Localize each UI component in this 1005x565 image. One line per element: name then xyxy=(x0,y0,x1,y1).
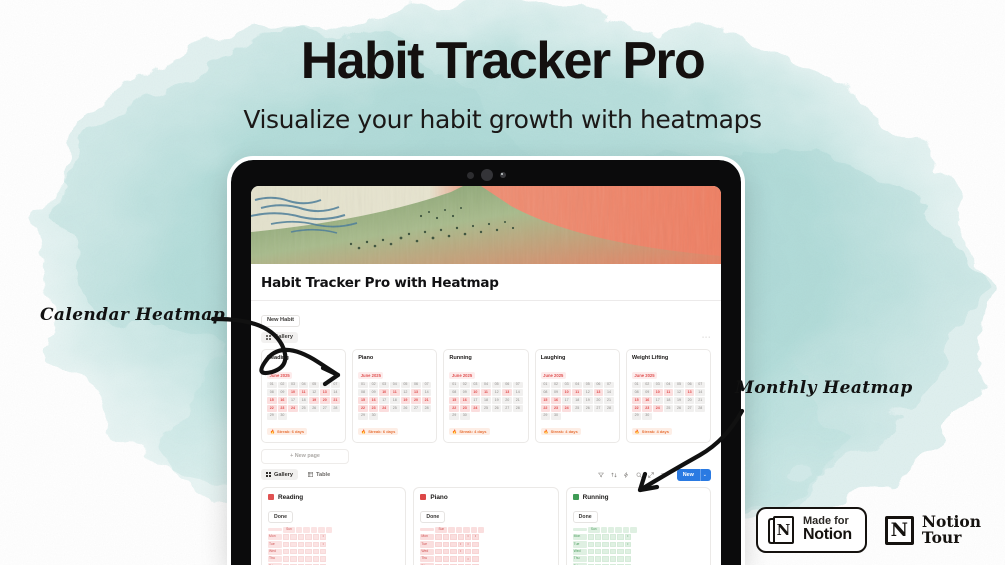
heatmap-cell[interactable] xyxy=(595,534,601,539)
calendar-day-cell[interactable]: 06 xyxy=(320,382,330,389)
calendar-day-cell[interactable]: 06 xyxy=(685,382,695,389)
monthly-grid-row: Wed• xyxy=(420,549,551,555)
calendar-day-cell[interactable]: 09 xyxy=(369,389,379,396)
calendar-day-cell[interactable]: 12 xyxy=(401,389,411,396)
calendar-day-cell[interactable]: 27 xyxy=(411,405,421,412)
calendar-day-cell[interactable]: 24 xyxy=(379,405,389,412)
calendar-day-cell[interactable]: 16 xyxy=(642,397,652,404)
calendar-day-cell[interactable]: 05 xyxy=(583,382,593,389)
calendar-day-cell[interactable]: 19 xyxy=(401,397,411,404)
monthly-header-cell xyxy=(463,527,469,532)
calendar-day-cell[interactable]: 18 xyxy=(299,397,309,404)
calendar-day-blank xyxy=(390,413,400,420)
calendar-day-cell[interactable]: 28 xyxy=(695,405,705,412)
calendar-day-cell[interactable]: 12 xyxy=(309,389,319,396)
heatmap-cell-mark-icon: • xyxy=(465,534,471,539)
monthly-card-header: Running xyxy=(573,494,704,501)
calendar-day-cell[interactable]: 13 xyxy=(411,389,421,396)
heatmap-cell[interactable] xyxy=(602,549,608,554)
calendar-day-cell[interactable]: 17 xyxy=(471,397,481,404)
notion-tour-line2: Tour xyxy=(922,530,981,546)
heatmap-cell[interactable]: • xyxy=(458,549,464,554)
table-icon xyxy=(308,472,313,477)
notion-tour-badge[interactable]: N Notion Tour xyxy=(885,514,981,546)
calendar-day-cell[interactable]: 23 xyxy=(551,405,561,412)
chevron-down-icon[interactable]: ⌄ xyxy=(700,469,711,481)
calendar-day-cell[interactable]: 07 xyxy=(331,382,341,389)
calendar-day-cell[interactable]: 17 xyxy=(379,397,389,404)
calendar-day-cell[interactable]: 04 xyxy=(390,382,400,389)
calendar-day-cell[interactable]: 29 xyxy=(449,413,459,420)
calendar-day-cell[interactable]: 08 xyxy=(449,389,459,396)
heatmap-cell[interactable] xyxy=(625,549,631,554)
calendar-day-cell[interactable]: 27 xyxy=(320,405,330,412)
calendar-day-cell[interactable]: 08 xyxy=(541,389,551,396)
calendar-day-blank xyxy=(401,413,411,420)
heatmap-cell[interactable] xyxy=(320,556,326,561)
notion-tour-logo-letter: N xyxy=(891,521,908,540)
calendar-card-month: June 2025 xyxy=(541,372,566,379)
calendar-day-cell[interactable]: 17 xyxy=(288,397,298,404)
heatmap-cell[interactable] xyxy=(313,534,319,539)
db-tab-gallery-label: Gallery xyxy=(274,472,293,478)
heatmap-cell[interactable] xyxy=(435,549,441,554)
monthly-heatmap-card[interactable]: PianoDoneSunMon••Tue••Wed•Thu•Fri••Sat••… xyxy=(413,487,558,565)
heatmap-cell[interactable] xyxy=(588,534,594,539)
calendar-day-blank xyxy=(299,413,309,420)
calendar-day-cell[interactable]: 20 xyxy=(502,397,512,404)
streak-label: Streak: 6 days xyxy=(368,430,395,434)
heatmap-cell[interactable] xyxy=(305,556,311,561)
heatmap-cell[interactable] xyxy=(283,556,289,561)
new-record-button[interactable]: New ⌄ xyxy=(677,469,711,481)
calendar-day-cell[interactable]: 18 xyxy=(390,397,400,404)
calendar-day-cell[interactable]: 18 xyxy=(481,397,491,404)
heatmap-cell[interactable] xyxy=(595,542,601,547)
heatmap-cell[interactable] xyxy=(602,556,608,561)
calendar-day-cell[interactable]: 26 xyxy=(583,405,593,412)
calendar-day-cell[interactable]: 14 xyxy=(604,389,614,396)
calendar-day-cell[interactable]: 19 xyxy=(492,397,502,404)
calendar-heatmap-card[interactable]: Weight LiftingJune 202501020304050607080… xyxy=(626,349,711,443)
calendar-day-cell[interactable]: 29 xyxy=(358,413,368,420)
heatmap-cell[interactable] xyxy=(305,542,311,547)
calendar-heatmap-card[interactable]: LaughingJune 202501020304050607080910111… xyxy=(535,349,620,443)
heatmap-cell[interactable] xyxy=(290,534,296,539)
heatmap-cell[interactable] xyxy=(290,549,296,554)
heatmap-cell[interactable] xyxy=(450,556,456,561)
calendar-day-cell[interactable]: 28 xyxy=(513,405,523,412)
calendar-day-cell[interactable]: 07 xyxy=(695,382,705,389)
heatmap-cell[interactable] xyxy=(450,549,456,554)
calendar-day-cell[interactable]: 03 xyxy=(288,382,298,389)
calendar-day-cell[interactable]: 21 xyxy=(604,397,614,404)
calendar-day-cell[interactable]: 23 xyxy=(369,405,379,412)
calendar-day-cell[interactable]: 04 xyxy=(299,382,309,389)
weekday-label: Tue xyxy=(420,541,434,547)
fire-icon: 🔥 xyxy=(361,430,366,434)
heatmap-cell[interactable] xyxy=(472,542,478,547)
calendar-day-cell[interactable]: 04 xyxy=(572,382,582,389)
heatmap-cell[interactable] xyxy=(588,556,594,561)
heatmap-cell[interactable] xyxy=(443,556,449,561)
calendar-day-blank xyxy=(320,413,330,420)
calendar-day-cell[interactable]: 14 xyxy=(422,389,432,396)
calendar-day-cell[interactable]: 11 xyxy=(572,389,582,396)
calendar-day-cell[interactable]: 19 xyxy=(674,397,684,404)
calendar-day-cell[interactable]: 20 xyxy=(320,397,330,404)
monthly-grid-row: Wed xyxy=(268,549,399,555)
heatmap-cell-mark-icon: • xyxy=(320,534,326,539)
calendar-day-cell[interactable]: 28 xyxy=(331,405,341,412)
calendar-day-cell[interactable]: 12 xyxy=(492,389,502,396)
db-tab-table[interactable]: Table xyxy=(303,469,335,480)
calendar-day-cell[interactable]: 04 xyxy=(481,382,491,389)
calendar-day-cell[interactable]: 11 xyxy=(664,389,674,396)
calendar-day-cell[interactable]: 29 xyxy=(541,413,551,420)
calendar-card-title: Running xyxy=(449,355,522,361)
calendar-day-cell[interactable]: 18 xyxy=(664,397,674,404)
heatmap-cell[interactable] xyxy=(610,549,616,554)
calendar-day-cell[interactable]: 21 xyxy=(513,397,523,404)
monthly-card-title: Reading xyxy=(278,494,303,501)
tab-gallery-label: Gallery xyxy=(274,335,293,341)
calendar-day-cell[interactable]: 22 xyxy=(541,405,551,412)
heatmap-cell[interactable] xyxy=(298,556,304,561)
calendar-day-cell[interactable]: 10 xyxy=(288,389,298,396)
calendar-day-cell[interactable]: 21 xyxy=(331,397,341,404)
heatmap-cell[interactable] xyxy=(458,534,464,539)
heatmap-cell[interactable] xyxy=(320,549,326,554)
more-options-icon[interactable]: ··· xyxy=(702,334,711,341)
calendar-day-cell[interactable]: 16 xyxy=(460,397,470,404)
calendar-day-cell[interactable]: 24 xyxy=(562,405,572,412)
streak-badge: 🔥Streak: 4 days xyxy=(632,428,672,435)
heatmap-cell[interactable]: • xyxy=(465,556,471,561)
calendar-day-cell[interactable]: 17 xyxy=(653,397,663,404)
calendar-day-cell[interactable]: 07 xyxy=(604,382,614,389)
heatmap-cell[interactable] xyxy=(588,549,594,554)
calendar-heatmap-card[interactable]: PianoJune 202501020304050607080910111213… xyxy=(352,349,437,443)
heatmap-cell[interactable] xyxy=(298,534,304,539)
calendar-day-cell[interactable]: 01 xyxy=(449,382,459,389)
calendar-day-cell[interactable]: 09 xyxy=(460,389,470,396)
calendar-day-cell[interactable]: 30 xyxy=(278,413,288,420)
calendar-day-cell[interactable]: 12 xyxy=(583,389,593,396)
heatmap-cell[interactable]: • xyxy=(465,534,471,539)
calendar-day-cell[interactable]: 20 xyxy=(685,397,695,404)
heatmap-cell[interactable] xyxy=(617,556,623,561)
monthly-heatmap-card[interactable]: RunningDoneSunMon•Tue•WedThuFriSat•Sun•P… xyxy=(566,487,711,565)
heatmap-cell[interactable] xyxy=(290,542,296,547)
gallery-grid-icon xyxy=(266,335,271,340)
calendar-day-cell[interactable]: 02 xyxy=(551,382,561,389)
heatmap-cell[interactable] xyxy=(305,549,311,554)
sort-icon[interactable] xyxy=(611,472,617,478)
monthly-grid-row: Wed xyxy=(573,549,704,555)
heatmap-cell[interactable] xyxy=(435,542,441,547)
db-tab-table-label: Table xyxy=(316,472,330,478)
calendar-day-cell[interactable]: 05 xyxy=(309,382,319,389)
calendar-day-cell[interactable]: 08 xyxy=(632,389,642,396)
calendar-grid: 0102030405060708091011121314151617181920… xyxy=(632,382,705,420)
monthly-header-cell xyxy=(326,527,332,532)
calendar-day-cell[interactable]: 10 xyxy=(471,389,481,396)
calendar-heatmap-card[interactable]: ReadingJune 2025010203040506070809101112… xyxy=(261,349,346,443)
made-for-notion-badge[interactable]: N Made for Notion xyxy=(756,507,867,553)
expand-icon[interactable] xyxy=(648,472,654,478)
calendar-day-cell[interactable]: 08 xyxy=(358,389,368,396)
heatmap-cell[interactable]: • xyxy=(458,542,464,547)
calendar-day-cell[interactable]: 26 xyxy=(401,405,411,412)
calendar-day-cell[interactable]: 29 xyxy=(267,413,277,420)
calendar-day-cell[interactable]: 15 xyxy=(541,397,551,404)
heatmap-cell[interactable] xyxy=(617,534,623,539)
calendar-day-cell[interactable]: 05 xyxy=(674,382,684,389)
calendar-day-cell[interactable]: 24 xyxy=(471,405,481,412)
calendar-day-cell[interactable]: 09 xyxy=(278,389,288,396)
calendar-day-cell[interactable]: 11 xyxy=(299,389,309,396)
calendar-day-cell[interactable]: 07 xyxy=(422,382,432,389)
monthly-header-spacer xyxy=(268,528,282,531)
calendar-day-cell[interactable]: 06 xyxy=(594,382,604,389)
calendar-day-cell[interactable]: 23 xyxy=(278,405,288,412)
heatmap-cell[interactable] xyxy=(610,534,616,539)
heatmap-cell[interactable] xyxy=(298,549,304,554)
calendar-day-blank xyxy=(513,413,523,420)
heatmap-cell[interactable] xyxy=(313,556,319,561)
weekday-label: Tue xyxy=(573,541,587,547)
heatmap-cell-mark-icon: • xyxy=(625,534,631,539)
calendar-day-cell[interactable]: 19 xyxy=(309,397,319,404)
calendar-day-cell[interactable]: 15 xyxy=(632,397,642,404)
heatmap-cell[interactable] xyxy=(313,542,319,547)
streak-badge: 🔥Streak: 6 days xyxy=(358,428,398,435)
calendar-grid: 0102030405060708091011121314151617181920… xyxy=(449,382,522,420)
monthly-heatmap-card[interactable]: ReadingDoneSunMon•Tue•WedThuFriSat•Sun•P… xyxy=(261,487,406,565)
heatmap-cell[interactable] xyxy=(283,542,289,547)
calendar-day-cell[interactable]: 02 xyxy=(460,382,470,389)
calendar-day-cell[interactable]: 25 xyxy=(572,405,582,412)
calendar-day-cell[interactable]: 02 xyxy=(278,382,288,389)
heatmap-cell[interactable] xyxy=(443,549,449,554)
heatmap-cell[interactable] xyxy=(610,542,616,547)
calendar-day-cell[interactable]: 10 xyxy=(653,389,663,396)
heatmap-cell[interactable]: • xyxy=(625,542,631,547)
calendar-day-cell[interactable]: 04 xyxy=(664,382,674,389)
tab-gallery[interactable]: Gallery xyxy=(261,332,298,343)
heatmap-cell[interactable] xyxy=(595,556,601,561)
heatmap-cell[interactable] xyxy=(450,542,456,547)
filter-icon[interactable] xyxy=(598,472,604,478)
calendar-day-cell[interactable]: 16 xyxy=(551,397,561,404)
calendar-day-cell[interactable]: 22 xyxy=(358,405,368,412)
calendar-day-cell[interactable]: 28 xyxy=(604,405,614,412)
heatmap-cell[interactable]: • xyxy=(465,542,471,547)
calendar-day-cell[interactable]: 27 xyxy=(685,405,695,412)
notion-tour-text: Notion Tour xyxy=(922,514,981,546)
heatmap-cell[interactable]: • xyxy=(472,534,478,539)
calendar-day-cell[interactable]: 18 xyxy=(572,397,582,404)
page-title: Habit Tracker Pro xyxy=(0,34,1005,89)
heatmap-cell[interactable] xyxy=(435,534,441,539)
calendar-day-cell[interactable]: 20 xyxy=(411,397,421,404)
new-page-button[interactable]: + New page xyxy=(261,449,349,464)
calendar-day-cell[interactable]: 03 xyxy=(379,382,389,389)
calendar-day-cell[interactable]: 12 xyxy=(674,389,684,396)
monthly-header-cell xyxy=(478,527,484,532)
calendar-day-cell[interactable]: 30 xyxy=(460,413,470,420)
calendar-day-cell[interactable]: 02 xyxy=(642,382,652,389)
search-icon[interactable] xyxy=(636,472,642,478)
heatmap-cell[interactable] xyxy=(617,542,623,547)
calendar-day-cell[interactable]: 24 xyxy=(288,405,298,412)
calendar-day-cell[interactable]: 05 xyxy=(492,382,502,389)
calendar-day-cell[interactable]: 23 xyxy=(642,405,652,412)
calendar-day-cell[interactable]: 14 xyxy=(331,389,341,396)
heatmap-cell[interactable] xyxy=(472,556,478,561)
calendar-day-cell[interactable]: 13 xyxy=(320,389,330,396)
heatmap-cell[interactable] xyxy=(472,549,478,554)
calendar-day-cell[interactable]: 10 xyxy=(562,389,572,396)
calendar-day-cell[interactable]: 05 xyxy=(401,382,411,389)
sensor-dot-icon xyxy=(467,172,474,179)
calendar-day-cell[interactable]: 26 xyxy=(309,405,319,412)
monthly-heatmap-strip: ReadingDoneSunMon•Tue•WedThuFriSat•Sun•P… xyxy=(259,487,713,565)
monthly-header-cell xyxy=(311,527,317,532)
calendar-day-cell[interactable]: 26 xyxy=(674,405,684,412)
monthly-header-spacer xyxy=(573,528,587,531)
weekday-label: Tue xyxy=(268,541,282,547)
calendar-day-cell[interactable]: 03 xyxy=(562,382,572,389)
heatmap-cell[interactable] xyxy=(298,542,304,547)
heatmap-cell[interactable] xyxy=(443,534,449,539)
heatmap-cell[interactable] xyxy=(625,556,631,561)
heatmap-cell[interactable] xyxy=(602,534,608,539)
calendar-day-cell[interactable]: 23 xyxy=(460,405,470,412)
calendar-day-cell[interactable]: 01 xyxy=(541,382,551,389)
heatmap-cell[interactable] xyxy=(283,534,289,539)
calendar-day-cell[interactable]: 19 xyxy=(583,397,593,404)
annotation-monthly-heatmap: Monthly Heatmap xyxy=(735,378,913,398)
heatmap-cell[interactable] xyxy=(458,556,464,561)
automation-icon[interactable] xyxy=(623,472,629,478)
heatmap-cell[interactable] xyxy=(595,549,601,554)
status-badge: Done xyxy=(573,511,598,523)
weekday-label: Wed xyxy=(573,549,587,555)
heatmap-cell[interactable]: • xyxy=(320,542,326,547)
calendar-day-cell[interactable]: 16 xyxy=(369,397,379,404)
calendar-day-cell[interactable]: 08 xyxy=(267,389,277,396)
calendar-day-cell[interactable]: 01 xyxy=(267,382,277,389)
calendar-day-cell[interactable]: 21 xyxy=(422,397,432,404)
calendar-day-blank xyxy=(481,413,491,420)
calendar-day-cell[interactable]: 13 xyxy=(685,389,695,396)
calendar-day-cell[interactable]: 14 xyxy=(513,389,523,396)
calendar-day-cell[interactable]: 25 xyxy=(299,405,309,412)
calendar-day-cell[interactable]: 27 xyxy=(502,405,512,412)
calendar-day-cell[interactable]: 11 xyxy=(390,389,400,396)
heatmap-cell[interactable] xyxy=(465,549,471,554)
calendar-day-cell[interactable]: 30 xyxy=(369,413,379,420)
calendar-day-cell[interactable]: 22 xyxy=(632,405,642,412)
calendar-day-cell[interactable]: 11 xyxy=(481,389,491,396)
calendar-day-cell[interactable]: 22 xyxy=(449,405,459,412)
db-tab-gallery[interactable]: Gallery xyxy=(261,469,298,480)
heatmap-cell[interactable] xyxy=(305,534,311,539)
calendar-day-cell[interactable]: 10 xyxy=(379,389,389,396)
calendar-day-cell[interactable]: 30 xyxy=(551,413,561,420)
calendar-day-cell[interactable]: 25 xyxy=(481,405,491,412)
heatmap-cell[interactable] xyxy=(435,556,441,561)
calendar-day-blank xyxy=(685,413,695,420)
calendar-day-cell[interactable]: 14 xyxy=(695,389,705,396)
calendar-day-blank xyxy=(604,413,614,420)
calendar-day-cell[interactable]: 03 xyxy=(471,382,481,389)
calendar-day-cell[interactable]: 28 xyxy=(422,405,432,412)
calendar-day-cell[interactable]: 25 xyxy=(664,405,674,412)
calendar-day-cell[interactable]: 01 xyxy=(632,382,642,389)
calendar-day-cell[interactable]: 29 xyxy=(632,413,642,420)
calendar-day-cell[interactable]: 06 xyxy=(502,382,512,389)
calendar-day-cell[interactable]: 02 xyxy=(369,382,379,389)
heatmap-cell[interactable] xyxy=(450,534,456,539)
calendar-day-cell[interactable]: 27 xyxy=(594,405,604,412)
calendar-day-cell[interactable]: 21 xyxy=(695,397,705,404)
calendar-day-cell[interactable]: 03 xyxy=(653,382,663,389)
calendar-day-cell[interactable]: 25 xyxy=(390,405,400,412)
heatmap-cell[interactable] xyxy=(588,542,594,547)
monthly-header-cell xyxy=(303,527,309,532)
tablet-screen: Habit Tracker Pro with Heatmap New Habit… xyxy=(251,186,721,565)
heatmap-cell[interactable]: • xyxy=(320,534,326,539)
calendar-day-cell[interactable]: 24 xyxy=(653,405,663,412)
new-habit-button[interactable]: New Habit xyxy=(261,315,300,328)
calendar-day-cell[interactable]: 01 xyxy=(358,382,368,389)
calendar-day-cell[interactable]: 06 xyxy=(411,382,421,389)
calendar-day-cell[interactable]: 09 xyxy=(642,389,652,396)
calendar-day-cell[interactable]: 09 xyxy=(551,389,561,396)
page-subtitle: Visualize your habit growth with heatmap… xyxy=(0,105,1005,134)
heatmap-cell[interactable] xyxy=(313,549,319,554)
heatmap-cell[interactable] xyxy=(283,549,289,554)
calendar-day-cell[interactable]: 07 xyxy=(513,382,523,389)
calendar-day-cell[interactable]: 16 xyxy=(278,397,288,404)
calendar-day-cell[interactable]: 13 xyxy=(594,389,604,396)
heatmap-cell[interactable] xyxy=(610,556,616,561)
notion-square-logo-icon: N xyxy=(885,516,914,545)
calendar-day-cell[interactable]: 22 xyxy=(267,405,277,412)
heatmap-cell[interactable] xyxy=(443,542,449,547)
calendar-day-cell[interactable]: 30 xyxy=(642,413,652,420)
monthly-header-cell: Sun xyxy=(283,527,295,532)
heatmap-cell[interactable] xyxy=(602,542,608,547)
calendar-day-cell[interactable]: 15 xyxy=(358,397,368,404)
calendar-day-cell[interactable]: 17 xyxy=(562,397,572,404)
calendar-day-cell[interactable]: 15 xyxy=(267,397,277,404)
divider xyxy=(251,300,721,301)
calendar-heatmap-card[interactable]: RunningJune 2025010203040506070809101112… xyxy=(443,349,528,443)
list-settings-icon[interactable] xyxy=(661,472,667,478)
calendar-day-cell[interactable]: 13 xyxy=(502,389,512,396)
calendar-day-cell[interactable]: 26 xyxy=(492,405,502,412)
heatmap-cell[interactable] xyxy=(290,556,296,561)
heatmap-cell[interactable] xyxy=(617,549,623,554)
annotation-calendar-heatmap: Calendar Heatmap xyxy=(40,305,225,325)
heatmap-cell[interactable]: • xyxy=(625,534,631,539)
calendar-day-cell[interactable]: 20 xyxy=(594,397,604,404)
calendar-day-cell[interactable]: 15 xyxy=(449,397,459,404)
